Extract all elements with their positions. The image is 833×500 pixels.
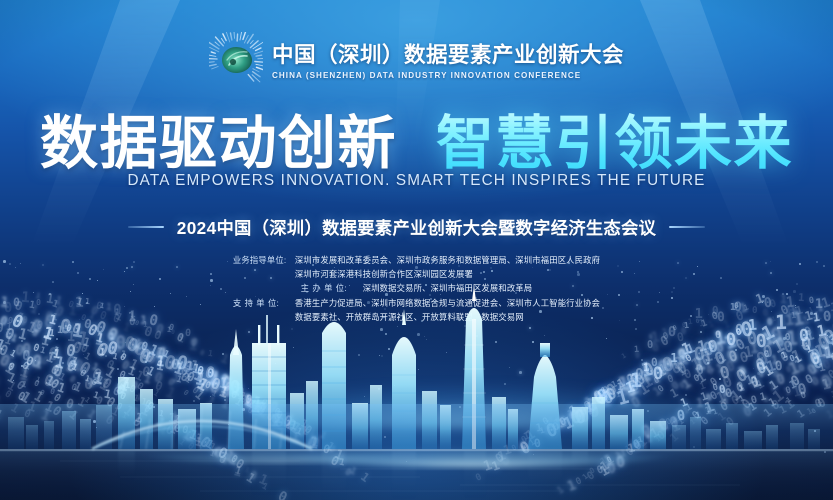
binary-digit: 0 <box>816 396 828 410</box>
binary-digit: 1 <box>48 329 55 339</box>
binary-digit: 0 <box>90 378 98 388</box>
binary-digit: 0 <box>707 338 719 355</box>
binary-digit: 1 <box>703 400 716 416</box>
binary-digit: 0 <box>762 343 775 361</box>
binary-digit: 0 <box>520 444 528 453</box>
binary-digit: 1 <box>557 417 568 431</box>
dust-particle <box>782 352 783 353</box>
binary-digit: 0 <box>141 366 151 380</box>
binary-digit: 0 <box>799 392 807 402</box>
binary-digit: 1 <box>624 380 641 401</box>
binary-digit: 0 <box>0 322 5 336</box>
binary-digit: 1 <box>191 366 207 385</box>
binary-digit: 0 <box>175 331 185 344</box>
dust-particle <box>56 338 58 340</box>
binary-digit: 0 <box>143 325 155 340</box>
binary-digit: 1 <box>103 365 118 381</box>
binary-digit: 0 <box>598 395 608 407</box>
binary-digit: 0 <box>816 333 833 355</box>
binary-digit: 0 <box>586 401 603 423</box>
binary-digit: 0 <box>99 377 113 393</box>
binary-digit: 1 <box>551 417 564 432</box>
binary-digit: 1 <box>828 333 833 348</box>
binary-digit: 0 <box>656 415 672 434</box>
binary-digit: 0 <box>664 416 672 426</box>
binary-digit: 0 <box>648 334 653 341</box>
binary-digit: 1 <box>241 391 254 409</box>
binary-digit: 0 <box>105 340 119 359</box>
dust-particle <box>275 363 276 364</box>
dust-particle <box>224 399 226 401</box>
binary-digit: 1 <box>786 359 802 378</box>
conference-poster: 1100000101000000110010001110011110001101… <box>0 0 833 500</box>
binary-digit: 0 <box>551 422 561 434</box>
binary-digit: 0 <box>712 349 728 369</box>
binary-digit: 1 <box>611 381 619 391</box>
binary-digit: 1 <box>116 374 133 395</box>
dust-particle <box>464 325 466 327</box>
binary-digit: 0 <box>702 341 715 360</box>
dust-particle <box>753 368 754 369</box>
binary-digit: 1 <box>194 376 211 395</box>
binary-digit: 1 <box>103 388 112 401</box>
binary-digit: 1 <box>818 362 827 374</box>
binary-digit: 0 <box>154 323 165 337</box>
binary-digit: 0 <box>70 340 84 358</box>
binary-digit: 0 <box>272 407 281 417</box>
binary-digit: 1 <box>132 395 140 405</box>
binary-digit: 1 <box>762 407 774 420</box>
binary-digit: 0 <box>254 400 269 419</box>
binary-digit: 1 <box>830 350 833 369</box>
binary-digit: 1 <box>811 364 819 375</box>
binary-digit: 0 <box>230 390 238 401</box>
binary-digit: 1 <box>155 354 166 370</box>
binary-digit: 1 <box>92 391 100 401</box>
binary-digit: 0 <box>735 338 749 354</box>
binary-digit: 1 <box>276 420 287 433</box>
binary-digit: 1 <box>737 383 745 394</box>
organizers-block: 业务指导单位: 深圳市发展和改革委员会、深圳市政务服务和数据管理局、深圳市福田区… <box>0 254 833 323</box>
binary-digit: 1 <box>678 367 688 379</box>
binary-digit: 0 <box>199 350 205 358</box>
binary-digit: 1 <box>153 346 165 362</box>
binary-digit: 1 <box>4 372 17 387</box>
binary-digit: 1 <box>188 360 199 375</box>
binary-digit: 0 <box>39 356 49 368</box>
binary-digit: 1 <box>584 400 596 416</box>
binary-digit: 1 <box>193 432 204 446</box>
binary-digit: 0 <box>568 409 579 422</box>
binary-digit: 1 <box>678 417 686 425</box>
binary-digit: 0 <box>299 423 313 440</box>
binary-digit: 1 <box>181 430 192 443</box>
binary-digit: 1 <box>82 353 91 364</box>
dust-particle <box>459 406 461 408</box>
binary-digit: 1 <box>545 418 555 431</box>
binary-digit: 0 <box>304 434 321 453</box>
binary-digit: 1 <box>695 412 702 422</box>
binary-digit: 1 <box>169 415 181 430</box>
binary-digit: 1 <box>614 450 624 462</box>
binary-digit: 0 <box>677 347 688 363</box>
binary-digit: 1 <box>274 412 285 428</box>
dust-particle <box>685 394 687 396</box>
binary-digit: 1 <box>496 449 507 463</box>
binary-digit: 0 <box>545 422 561 442</box>
binary-digit: 0 <box>22 410 31 422</box>
binary-digit: 0 <box>811 407 818 414</box>
dust-particle <box>532 341 534 343</box>
binary-digit: 0 <box>171 360 179 370</box>
binary-digit: 0 <box>826 368 833 382</box>
binary-digit: 0 <box>178 370 191 385</box>
binary-digit: 0 <box>28 353 43 372</box>
binary-digit: 0 <box>208 380 221 397</box>
binary-digit: 1 <box>75 330 90 351</box>
binary-digit: 1 <box>528 439 536 448</box>
binary-digit: 1 <box>680 341 694 359</box>
binary-digit: 1 <box>658 423 666 433</box>
binary-digit: 1 <box>183 376 192 386</box>
organizer-group: 主办单位: 深圳数据交易所、深圳市福田区发展和改革局 <box>301 282 533 294</box>
dust-particle <box>378 388 380 390</box>
binary-digit: 0 <box>769 325 784 346</box>
binary-digit: 1 <box>95 331 106 345</box>
binary-digit: 1 <box>659 420 670 435</box>
binary-digit: 1 <box>348 466 358 477</box>
binary-digit: 0 <box>763 350 771 360</box>
binary-digit: 0 <box>118 384 128 396</box>
binary-digit: 0 <box>542 416 551 427</box>
binary-digit: 1 <box>770 338 787 358</box>
binary-digit: 0 <box>77 368 87 379</box>
dust-particle <box>544 335 545 336</box>
binary-digit: 1 <box>3 334 13 347</box>
binary-digit: 0 <box>811 354 826 373</box>
binary-digit: 0 <box>113 377 129 394</box>
binary-digit: 0 <box>64 354 77 371</box>
binary-digit: 0 <box>229 455 239 466</box>
binary-digit: 0 <box>651 357 659 369</box>
binary-digit: 1 <box>780 351 789 361</box>
binary-digit: 1 <box>257 473 270 489</box>
binary-digit: 1 <box>70 322 84 343</box>
binary-digit: 1 <box>35 361 42 371</box>
binary-digit: 0 <box>725 348 742 367</box>
dust-particle <box>291 328 293 330</box>
binary-digit: 0 <box>118 353 128 364</box>
binary-digit: 1 <box>670 352 677 364</box>
binary-digit: 1 <box>94 332 106 349</box>
binary-digit: 0 <box>805 363 820 379</box>
binary-digit: 1 <box>127 365 138 379</box>
binary-digit: 0 <box>114 383 128 399</box>
binary-digit: 1 <box>9 351 15 360</box>
binary-digit: 1 <box>823 344 833 361</box>
binary-digit: 1 <box>306 435 318 448</box>
binary-digit: 1 <box>44 351 56 366</box>
binary-digit: 0 <box>303 425 314 437</box>
binary-digit: 1 <box>193 389 206 403</box>
binary-digit: 0 <box>201 374 214 393</box>
binary-digit: 0 <box>343 467 353 478</box>
dust-particle <box>385 333 387 335</box>
binary-digit: 0 <box>605 455 613 464</box>
binary-digit: 0 <box>24 355 35 369</box>
binary-digit: 1 <box>614 387 630 409</box>
binary-digit: 0 <box>669 379 681 392</box>
binary-digit: 1 <box>770 387 786 405</box>
binary-digit: 1 <box>620 450 626 459</box>
binary-digit: 0 <box>807 350 822 369</box>
binary-digit: 0 <box>604 385 619 403</box>
binary-digit: 1 <box>288 419 298 432</box>
binary-digit: 0 <box>705 364 716 377</box>
binary-digit: 1 <box>311 437 320 449</box>
binary-digit: 0 <box>809 351 822 368</box>
binary-digit: 1 <box>205 370 220 388</box>
binary-digit: 1 <box>260 482 269 492</box>
binary-digit: 1 <box>108 344 116 354</box>
binary-digit: 1 <box>645 431 652 441</box>
binary-digit: 1 <box>565 407 578 422</box>
dust-particle <box>125 342 126 343</box>
binary-digit: 1 <box>646 434 653 443</box>
binary-digit: 0 <box>112 386 122 399</box>
dust-particle <box>417 333 420 336</box>
dust-particle <box>827 335 828 336</box>
binary-digit: 1 <box>308 434 320 451</box>
dust-particle <box>242 408 245 411</box>
binary-digit: 1 <box>643 373 652 384</box>
binary-digit: 1 <box>696 397 704 410</box>
binary-digit: 1 <box>41 325 55 344</box>
binary-digit: 0 <box>251 395 259 405</box>
binary-digit: 1 <box>333 448 345 463</box>
binary-digit: 0 <box>180 365 189 378</box>
binary-digit: 0 <box>693 373 702 384</box>
binary-digit: 1 <box>76 395 88 409</box>
binary-digit: 0 <box>259 399 268 409</box>
binary-digit: 0 <box>678 381 686 390</box>
binary-digit: 0 <box>700 415 712 427</box>
binary-digit: 1 <box>815 323 827 340</box>
binary-digit: 1 <box>767 397 778 410</box>
dust-particle <box>210 396 211 397</box>
binary-digit: 1 <box>693 355 707 375</box>
dust-particle <box>481 344 483 346</box>
binary-digit: 0 <box>754 333 767 352</box>
binary-digit: 1 <box>651 372 662 387</box>
binary-digit: 0 <box>493 451 506 465</box>
binary-digit: 0 <box>544 427 551 438</box>
binary-digit: 0 <box>746 331 759 350</box>
main-headline: 数据驱动创新 智慧引领未来 <box>0 96 833 180</box>
binary-digit: 1 <box>161 350 170 361</box>
binary-digit: 0 <box>582 400 592 413</box>
dust-particle <box>406 461 407 462</box>
binary-digit: 0 <box>274 410 284 421</box>
binary-digit: 1 <box>820 344 833 362</box>
binary-digit: 0 <box>680 327 686 336</box>
dust-particle <box>519 371 522 374</box>
binary-digit: 1 <box>167 361 177 373</box>
binary-digit: 0 <box>3 326 17 343</box>
binary-digit: 1 <box>139 403 153 419</box>
radial-burst-logo-icon <box>209 32 263 86</box>
binary-digit: 0 <box>285 417 298 434</box>
binary-digit: 1 <box>713 329 727 349</box>
binary-digit: 0 <box>50 404 63 419</box>
binary-digit: 1 <box>702 358 717 377</box>
binary-digit: 1 <box>769 354 778 367</box>
binary-digit: 1 <box>172 372 181 384</box>
binary-digit: 0 <box>821 357 833 372</box>
binary-digit: 0 <box>3 389 13 400</box>
binary-digit: 0 <box>243 397 255 413</box>
binary-digit: 0 <box>22 342 32 358</box>
binary-digit: 1 <box>615 391 622 399</box>
binary-digit: 1 <box>624 380 636 396</box>
binary-digit: 0 <box>197 435 213 452</box>
dust-particle <box>477 396 478 397</box>
binary-digit: 0 <box>578 405 588 418</box>
binary-digit: 0 <box>595 387 611 406</box>
binary-digit: 1 <box>577 408 585 417</box>
binary-digit: 1 <box>208 348 214 357</box>
binary-digit: 0 <box>739 367 748 377</box>
binary-digit: 0 <box>131 339 149 361</box>
binary-digit: 0 <box>601 388 610 400</box>
binary-digit: 0 <box>143 399 152 409</box>
binary-digit: 0 <box>657 358 671 379</box>
binary-digit: 0 <box>604 382 619 400</box>
dust-particle <box>83 354 84 355</box>
binary-digit: 0 <box>567 412 578 425</box>
binary-digit: 1 <box>0 394 3 411</box>
binary-digit: 0 <box>624 382 639 400</box>
binary-digit: 1 <box>683 406 691 415</box>
organizer-value: 数据要素社、开放群岛开源社区、开放算料联盟、数据交易网 <box>295 311 600 323</box>
binary-digit: 0 <box>217 383 233 402</box>
binary-digit: 1 <box>90 363 99 374</box>
binary-digit: 1 <box>268 406 276 415</box>
binary-digit: 0 <box>185 329 192 339</box>
binary-digit: 1 <box>585 404 593 414</box>
binary-digit: 0 <box>775 374 787 390</box>
binary-digit: 0 <box>712 384 719 394</box>
binary-digit: 0 <box>719 364 732 382</box>
binary-digit: 0 <box>730 395 741 409</box>
binary-digit: 1 <box>765 359 778 375</box>
binary-digit: 0 <box>670 361 683 377</box>
binary-digit: 0 <box>652 365 664 383</box>
binary-digit: 0 <box>257 404 265 414</box>
binary-digit: 0 <box>3 331 11 341</box>
binary-digit: 0 <box>140 340 150 353</box>
binary-digit: 0 <box>676 409 686 424</box>
binary-digit: 0 <box>475 472 484 483</box>
binary-digit: 1 <box>786 328 799 348</box>
binary-digit: 0 <box>650 341 660 354</box>
binary-digit: 1 <box>783 388 793 400</box>
binary-digit: 1 <box>2 362 16 378</box>
binary-digit: 0 <box>774 360 783 374</box>
binary-digit: 1 <box>784 398 798 413</box>
binary-digit: 0 <box>722 397 730 407</box>
binary-digit: 1 <box>232 386 241 396</box>
binary-digit: 0 <box>616 453 625 464</box>
dust-particle <box>606 338 607 339</box>
binary-digit: 1 <box>218 376 229 392</box>
binary-digit: 0 <box>152 329 163 342</box>
binary-digit: 1 <box>358 471 371 485</box>
binary-digit: 1 <box>585 396 598 415</box>
binary-digit: 0 <box>675 361 689 378</box>
binary-digit: 1 <box>199 378 213 395</box>
dust-particle <box>650 370 652 372</box>
binary-digit: 0 <box>220 381 233 396</box>
logo-text-block: 中国（深圳）数据要素产业创新大会 CHINA (SHENZHEN) DATA I… <box>272 38 624 80</box>
dust-particle <box>381 355 383 357</box>
binary-digit: 0 <box>641 361 657 381</box>
binary-digit: 1 <box>158 409 165 418</box>
dust-particle <box>533 454 534 455</box>
binary-digit: 0 <box>626 377 643 395</box>
binary-digit: 0 <box>207 368 215 380</box>
binary-digit: 1 <box>669 387 681 401</box>
binary-digit: 0 <box>103 396 117 411</box>
binary-digit: 1 <box>116 344 122 354</box>
dust-particle <box>814 430 816 432</box>
binary-digit: 0 <box>195 366 204 378</box>
binary-digit: 1 <box>72 380 84 394</box>
dust-particle <box>380 328 383 331</box>
binary-digit: 1 <box>599 457 609 468</box>
binary-digit: 0 <box>782 339 795 356</box>
binary-digit: 0 <box>64 358 79 376</box>
dust-particle <box>93 420 96 423</box>
binary-digit: 0 <box>625 447 637 459</box>
binary-digit: 1 <box>295 427 303 437</box>
binary-digit: 0 <box>606 460 617 476</box>
dust-particle <box>824 451 826 453</box>
binary-digit: 1 <box>173 414 182 425</box>
binary-digit: 1 <box>9 402 21 416</box>
binary-digit: 1 <box>220 397 232 411</box>
binary-digit: 1 <box>583 396 595 411</box>
organizer-group: 业务指导单位: 深圳市发展和改革委员会、深圳市政务服务和数据管理局、深圳市福田区… <box>233 254 600 280</box>
binary-digit: 0 <box>64 397 75 411</box>
binary-digit: 0 <box>230 380 241 398</box>
binary-digit: 0 <box>671 416 679 426</box>
binary-digit: 0 <box>131 344 141 356</box>
binary-digit: 1 <box>598 459 611 474</box>
binary-digit: 1 <box>767 379 778 393</box>
binary-digit: 1 <box>717 352 728 365</box>
binary-digit: 0 <box>203 364 217 382</box>
dust-particle <box>153 406 155 408</box>
binary-digit: 0 <box>170 357 181 372</box>
binary-digit: 1 <box>39 409 52 425</box>
binary-digit: 0 <box>154 346 167 363</box>
binary-digit: 0 <box>533 438 541 450</box>
binary-digit: 0 <box>548 417 555 426</box>
binary-digit: 0 <box>694 363 705 378</box>
binary-digit: 1 <box>703 350 714 366</box>
binary-digit: 0 <box>250 397 263 414</box>
